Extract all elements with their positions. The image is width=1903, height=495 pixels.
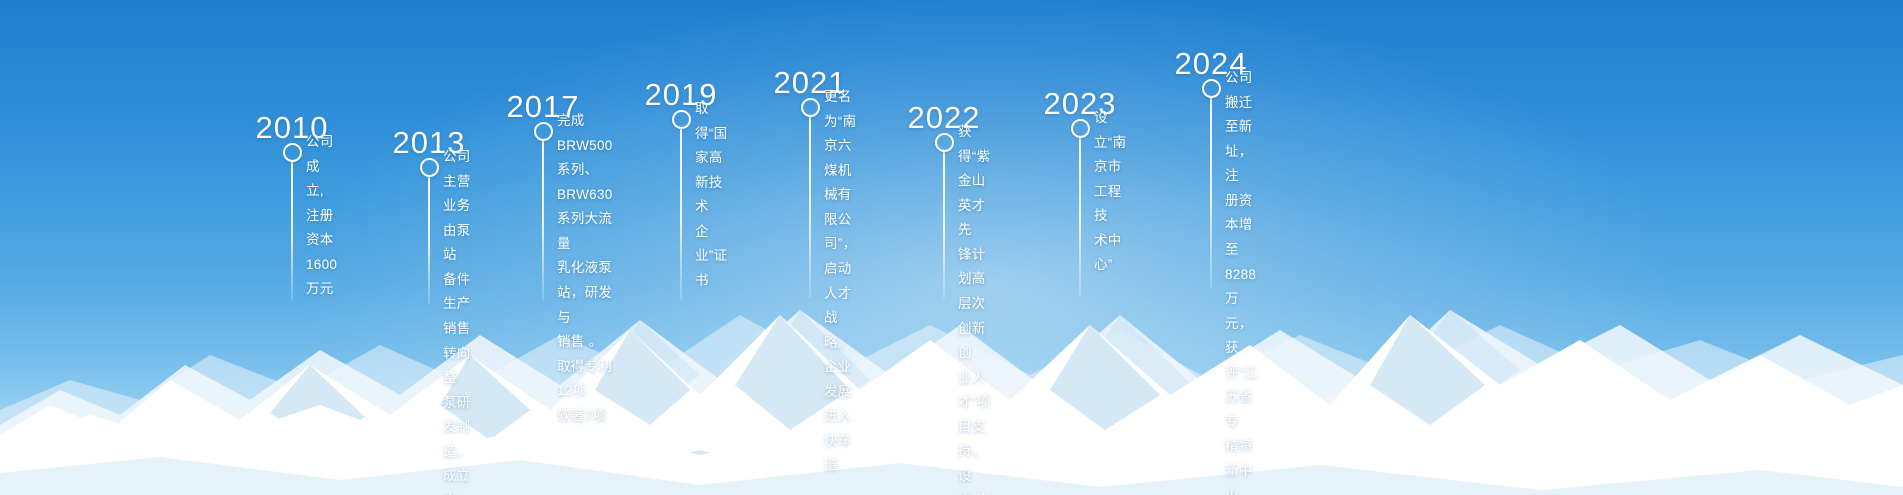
timeline-event-description: 更名为“南京六煤机 械有限公司”，启动 人才战略。企业发展 进入快车道 [824, 85, 856, 478]
timeline-event-description: 公司成立,注册资本 1600万元 [306, 130, 337, 302]
timeline-marker-dot[interactable] [534, 122, 553, 141]
timeline-stem-line [428, 176, 430, 304]
timeline-stem-line [680, 128, 682, 300]
timeline-stem-line [1210, 97, 1212, 289]
timeline-marker-dot[interactable] [283, 143, 302, 162]
timeline-event-description: 公司搬迁至新址，注 册资本增至8288万 元，获评“江苏省专 精特新中小 企业” [1225, 66, 1257, 495]
timeline-marker-dot[interactable] [420, 158, 439, 177]
timeline-marker-dot[interactable] [1202, 79, 1221, 98]
timeline-stem-line [809, 116, 811, 298]
timeline-infographic: 2010公司成立,注册资本 1600万元2013公司主营业务由泵站 备件生产销售… [0, 0, 1903, 495]
timeline-event-description: 获得“紫金山英才先 锋计划高层次创新创 业人才”项目支持， 设立“南京市企业专 … [958, 120, 990, 495]
timeline-marker-dot[interactable] [1071, 119, 1090, 138]
timeline-event-description: 取得“国家高新技术 企业”证书 [695, 97, 727, 294]
timeline-track: 2010公司成立,注册资本 1600万元2013公司主营业务由泵站 备件生产销售… [0, 0, 1903, 495]
timeline-event-description: 完成BRW500系列、 BRW630系列大流量 乳化液泵站，研发与 销售 。取得… [557, 109, 613, 428]
timeline-stem-line [542, 140, 544, 300]
timeline-stem-line [291, 161, 293, 301]
timeline-marker-dot[interactable] [801, 98, 820, 117]
timeline-marker-dot[interactable] [935, 133, 954, 152]
timeline-stem-line [1079, 137, 1081, 297]
timeline-event-description: 公司主营业务由泵站 备件生产销售转向整 泵研发制造，成立产 品研发中心,公司注册… [443, 145, 474, 495]
timeline-event-description: 设立“南京市工程技 术中心” [1094, 106, 1126, 278]
timeline-marker-dot[interactable] [672, 110, 691, 129]
timeline-stem-line [943, 151, 945, 299]
